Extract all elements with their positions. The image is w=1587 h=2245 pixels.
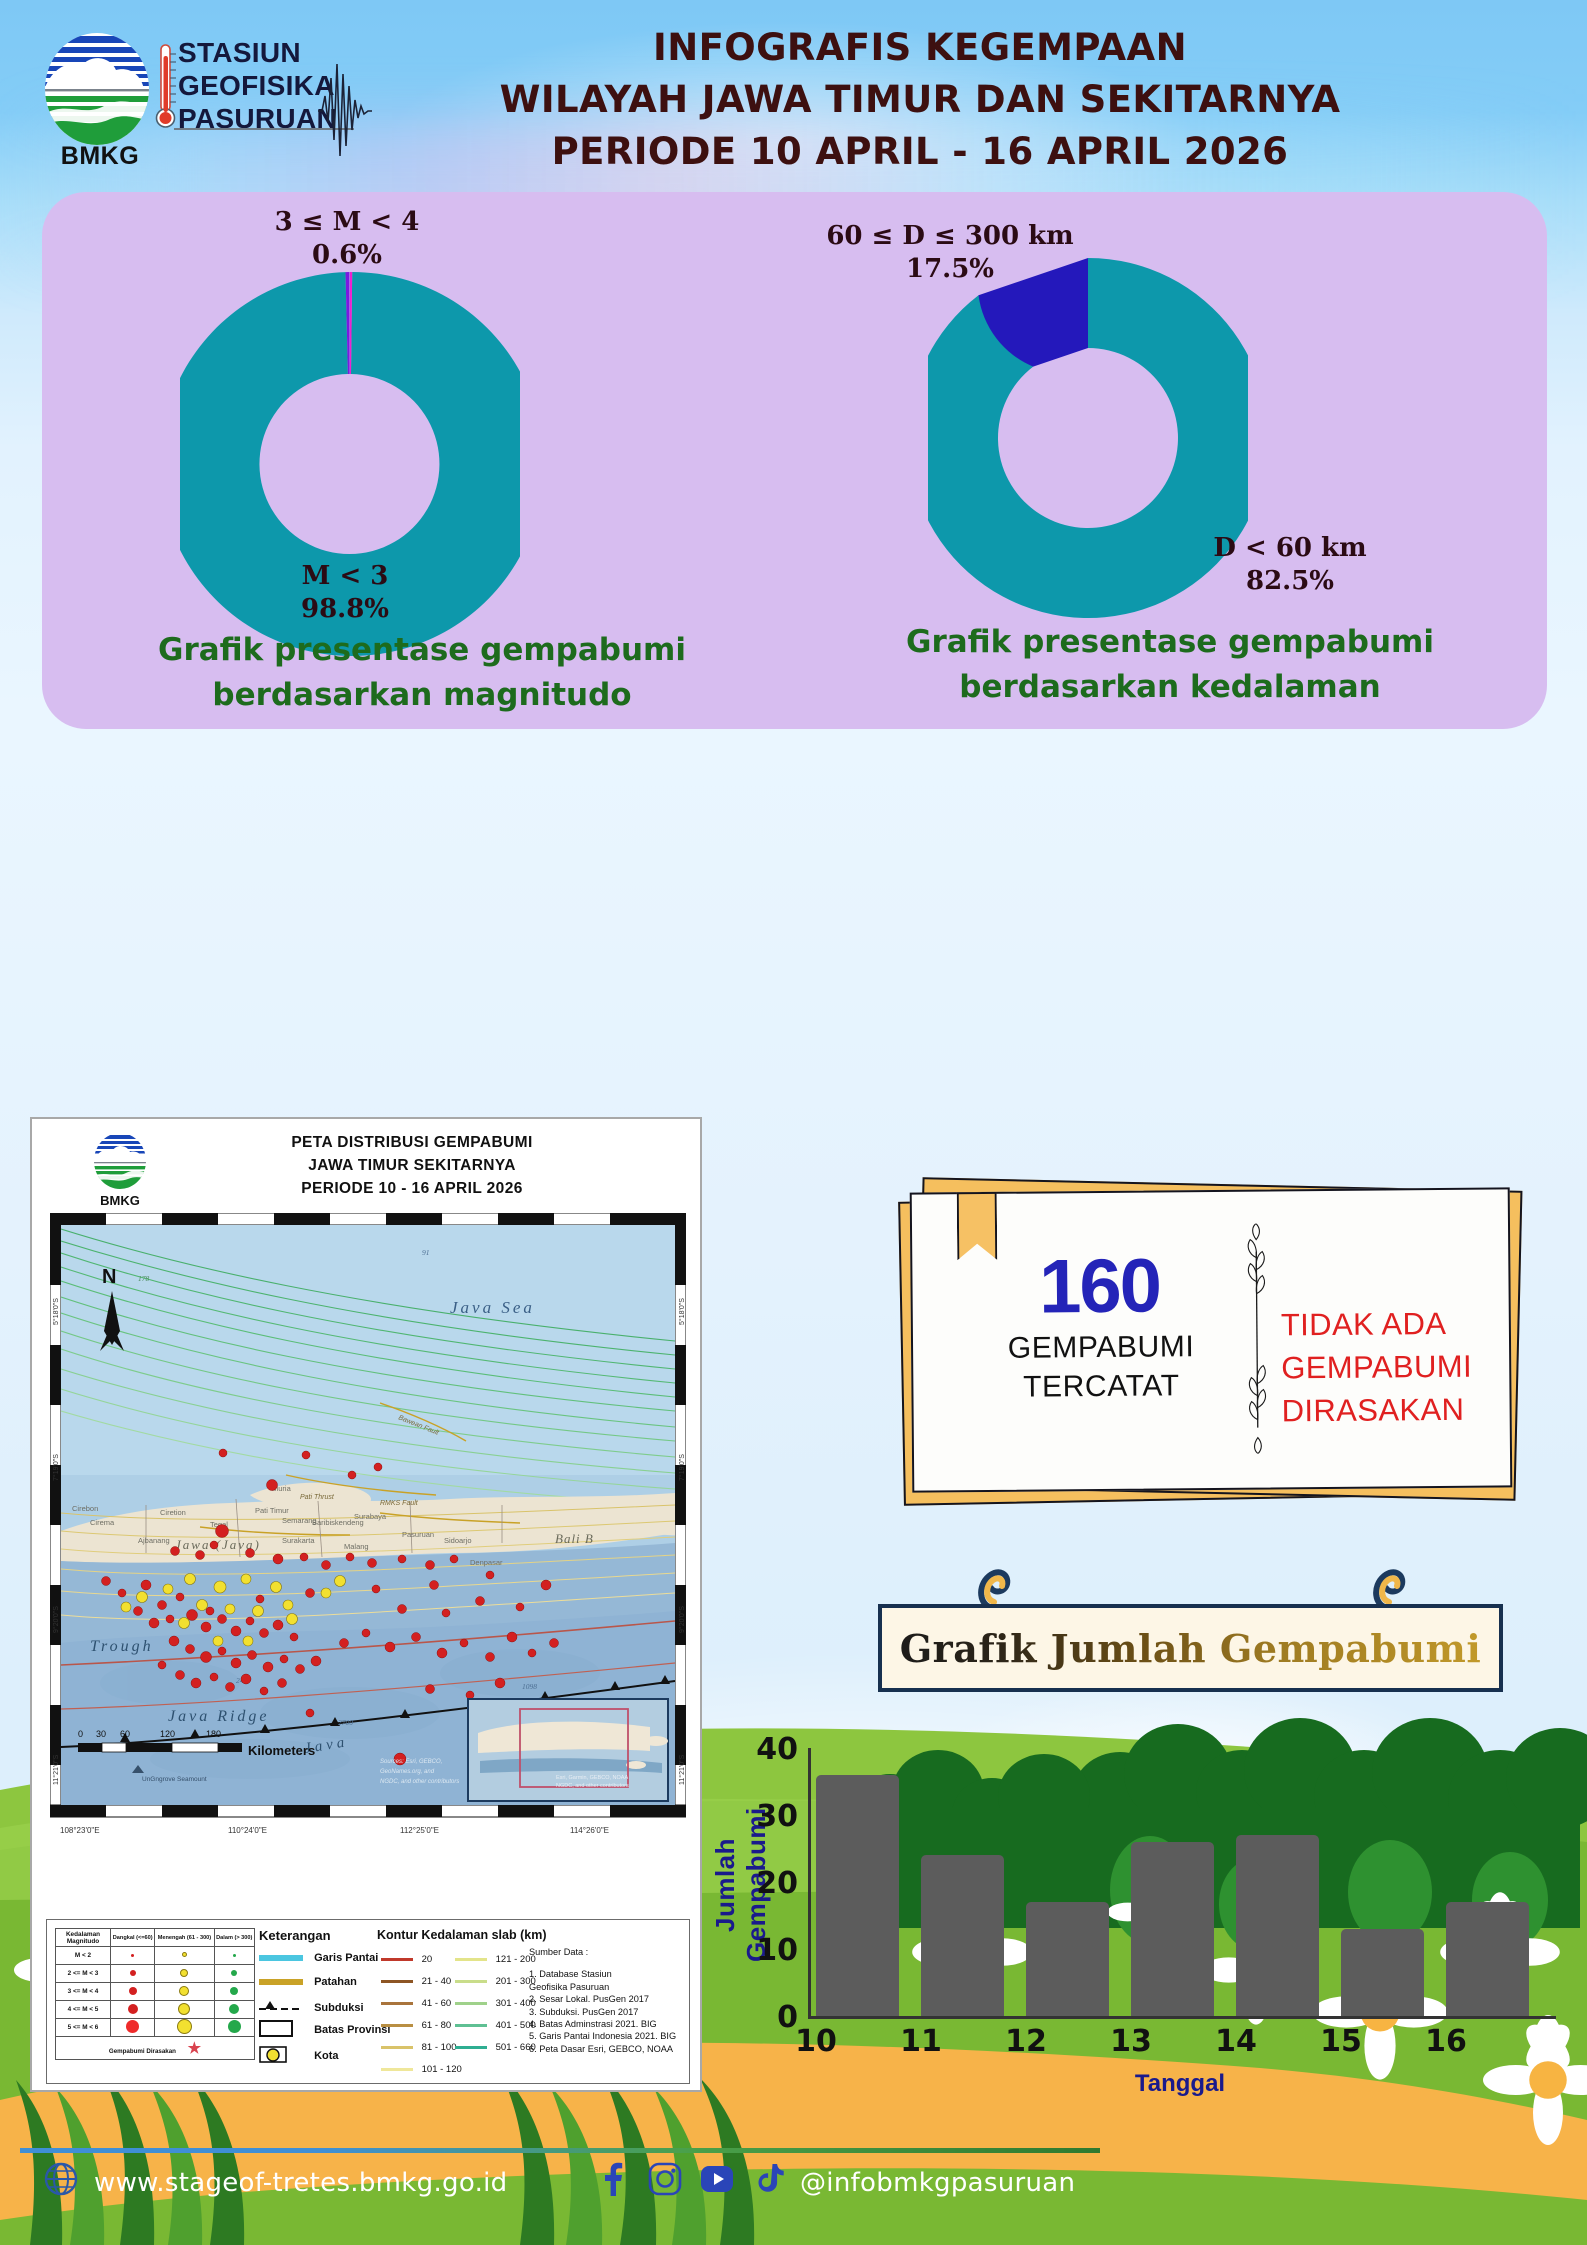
bar-10[interactable] [816,1775,899,2016]
map-svg: N Java Sea Jawa (Java) Trough Java Ridge… [50,1213,686,1853]
kontur-item-l6: 101 - 120 [381,2064,462,2075]
kontur-swatch-r4 [455,2024,487,2027]
map-plot-area[interactable]: N Java Sea Jawa (Java) Trough Java Ridge… [50,1213,686,1853]
chart-xtick-10: 10 [771,2024,861,2059]
percentage-charts-panel: 3 ≤ M < 4 0.6% M < 3 98.8% Grafik presen… [42,192,1547,729]
chart-xtick-12: 12 [981,2024,1071,2059]
chart-ytick-10: 10 [736,1933,798,1968]
title-line-3: PERIODE 10 APRIL - 16 APRIL 2026 [330,126,1510,178]
svg-text:7°19'0"S: 7°19'0"S [52,1454,60,1481]
legend-mag-label-1: M < 2 [56,1947,111,1965]
keterangan-item-province: Batas Provinsi [259,2024,390,2036]
svg-text:9°20'0"S: 9°20'0"S [52,1606,60,1633]
svg-text:N: N [102,1266,116,1288]
count-sub-line-2: TERCATAT [963,1366,1239,1407]
keterangan-item-city: Kota [259,2050,339,2062]
legend-depth-header-3: Dalam (> 300) [214,1929,254,1947]
svg-text:NGDC, and other contributors: NGDC, and other contributors [556,1783,629,1789]
legend-corner-header: Kedalaman Magnitudo [56,1929,111,1947]
title-line-1: INFOGRAFIS KEGEMPAAN [330,22,1510,74]
legend-row-m4: 4 <= M < 5 [56,2001,255,2019]
chart-x-axis-line [808,2016,1556,2019]
magnitude-caption: Grafik presentase gempabumi berdasarkan … [52,628,792,718]
source-item-3: 3. Subduksi. PusGen 2017 [529,2006,676,2018]
youtube-icon[interactable] [700,2162,734,2196]
magnitude-top-label-group: 3 ≤ M < 4 0.6% [182,206,512,272]
svg-text:60: 60 [120,1729,130,1739]
bali-label: Bali B [555,1531,594,1546]
legend-dot-green-1 [233,1954,236,1957]
svg-text:Esri, Garmin, GEBCO, NOAA: Esri, Garmin, GEBCO, NOAA [556,1775,628,1781]
legend-dot-yellow-5 [177,2019,192,2034]
svg-text:5°18'0"S: 5°18'0"S [52,1298,60,1325]
svg-text:Surabaya: Surabaya [354,1512,387,1521]
lon-tick-4: 114°26'0"E [570,1826,609,1835]
kontur-item-l4: 61 - 80 [381,2020,451,2031]
pati-thrust-label: Pati Thrust [300,1494,335,1501]
legend-dot-red-5 [126,2020,139,2033]
star-icon: ★ [188,2040,201,2057]
legend-dot-yellow-2 [180,1969,188,1977]
magnitude-bottom-value: 98.8% [220,593,470,626]
svg-text:11°21'0"S: 11°21'0"S [52,1754,60,1785]
svg-text:11°21'0"S: 11°21'0"S [678,1754,686,1785]
legend-mag-label-2: 2 <= M < 3 [56,1965,111,1983]
footer-website[interactable]: www.stageof-tretes.bmkg.go.id [94,2168,507,2198]
depth-bottom-label-group: D < 60 km 82.5% [1130,532,1450,598]
fault-swatch-icon [259,1979,303,1985]
depth-top-label: 60 ≤ D ≤ 300 km [750,220,1150,253]
bar-16[interactable] [1446,1902,1529,2016]
bmkg-emblem-icon [38,32,156,150]
bar-12[interactable] [1026,1902,1109,2016]
kontur-item-r3: 301 - 400 [455,1998,536,2009]
legend-dot-red-2 [130,1970,136,1976]
svg-text:Sources: Esri, GEBCO,: Sources: Esri, GEBCO, [380,1759,442,1765]
svg-text:Denpasar: Denpasar [470,1558,503,1567]
branch-divider-icon [1242,1223,1272,1453]
map-title-line-2: JAWA TIMUR SEKITARNYA [192,1154,632,1177]
facebook-icon[interactable] [600,2162,626,2196]
legend-dot-green-2 [231,1970,237,1976]
legend-dot-yellow-1 [182,1952,187,1957]
bar-15[interactable] [1341,1929,1424,2016]
chart-xtick-15: 15 [1296,2024,1386,2059]
footer-divider-line [20,2148,1100,2153]
chart-banner-title: Grafik Jumlah Gempabumi [882,1618,1499,1680]
legend-dot-red-4 [128,2004,138,2014]
svg-text:Pasuruan: Pasuruan [402,1530,434,1539]
kontur-item-l1: 20 [381,1954,432,1965]
map-header: BMKG PETA DISTRIBUSI GEMPABUMI JAWA TIMU… [32,1125,704,1211]
svg-text:30: 30 [96,1729,106,1739]
source-item-1b: Geofisika Pasuruan [529,1981,676,1993]
magnitude-donut-chart: 3 ≤ M < 4 0.6% M < 3 98.8% Grafik presen… [52,192,792,729]
chart-plot-area [810,1748,1550,2016]
chart-xtick-16: 16 [1401,2024,1491,2059]
map-logo-wordmark: BMKG [88,1193,152,1208]
instagram-icon[interactable] [648,2162,682,2196]
svg-text:180: 180 [206,1729,221,1739]
subduction-swatch-icon [259,2005,303,2011]
contour-label-1098: 1098 [522,1682,537,1691]
bar-11[interactable] [921,1855,1004,2016]
magnitude-caption-line-1: Grafik presentase gempabumi [52,628,792,673]
kontur-item-l2: 21 - 40 [381,1976,451,1987]
kontur-swatch-l1 [381,1958,413,1961]
legend-row-m2: 2 <= M < 3 [56,1965,255,1983]
kontur-swatch-r5 [455,2046,487,2049]
magnitude-caption-line-2: berdasarkan magnitudo [52,673,792,718]
tiktok-icon[interactable] [752,2162,786,2196]
depth-caption-line-1: Grafik presentase gempabumi [800,620,1540,665]
legend-dot-green-3 [230,1987,238,1995]
depth-bottom-label: D < 60 km [1130,532,1450,565]
depth-bottom-value: 82.5% [1130,565,1450,598]
source-data-block: Sumber Data : 1. Database Stasiun Geofis… [529,1946,676,2055]
earthquake-count-bar-chart: Jumlah Gempabumi 40 30 20 10 0 10 11 12 … [700,1718,1580,2088]
legend-mag-label-4: 4 <= M < 5 [56,2001,111,2019]
source-item-6: 6. Peta Dasar Esri, GEBCO, NOAA [529,2043,676,2055]
page-header: BMKG STASIUN GEOFISIKA PASURUAN INFOGRAF… [0,0,1587,195]
count-sub-line-1: GEMPABUMI [963,1327,1239,1368]
map-legend: Kedalaman Magnitudo Dangkal (<=60) Menen… [46,1919,690,2084]
contour-label-2700: 2700 [338,1718,353,1727]
java-ridge-label: Java Ridge [168,1708,270,1725]
seamount-label: UnGngrove Seamount [142,1776,207,1783]
kontur-swatch-r3 [455,2002,487,2005]
kontur-item-l3: 41 - 60 [381,1998,451,2009]
rmks-fault-label: RMKS Fault [380,1500,419,1507]
station-name: STASIUN GEOFISIKA PASURUAN [178,36,337,135]
svg-text:0: 0 [78,1729,83,1739]
svg-text:120: 120 [160,1729,175,1739]
legend-row-m5: 5 <= M < 6 [56,2019,255,2037]
source-item-5: 5. Garis Pantai Indonesia 2021. BIG [529,2030,676,2042]
no-felt-line-1: TIDAK ADA [1281,1301,1509,1346]
keterangan-title: Keterangan [259,1928,331,1943]
contour-label-178: 178 [138,1274,150,1283]
map-title: PETA DISTRIBUSI GEMPABUMI JAWA TIMUR SEK… [192,1131,632,1200]
bar-14[interactable] [1236,1835,1319,2016]
bar-13[interactable] [1131,1842,1214,2016]
magnitude-depth-legend-table: Kedalaman Magnitudo Dangkal (<=60) Menen… [55,1928,255,2060]
legend-depth-header-2: Menengah (61 - 300) [155,1929,214,1947]
keterangan-item-fault: Patahan [259,1976,357,1988]
station-line-1: STASIUN [178,36,337,69]
legend-dot-yellow-3 [179,1986,189,1996]
keterangan-item-coastline: Garis Pantai [259,1952,378,1964]
legend-dot-green-4 [229,2004,239,2014]
svg-text:GeoNames.org, and: GeoNames.org, and [380,1769,435,1775]
earthquake-distribution-map-card: BMKG PETA DISTRIBUSI GEMPABUMI JAWA TIMU… [30,1117,702,2092]
source-item-1: 1. Database Stasiun [529,1968,676,1980]
kontur-item-l5: 81 - 100 [381,2042,457,2053]
no-felt-line-3: DIRASAKAN [1281,1387,1509,1432]
legend-felt-label: Gempabumi Dirasakan [109,2048,176,2055]
chart-ytick-40: 40 [736,1732,798,1767]
earthquake-count-card: 160 GEMPABUMI TERCATAT TIDAK ADA GEMPABU [893,1178,1519,1510]
footer-social-handle[interactable]: @infobmkgpasuruan [800,2168,1075,2198]
legend-dot-green-5 [228,2020,241,2033]
title-line-2: WILAYAH JAWA TIMUR DAN SEKITARNYA [330,74,1510,126]
svg-text:Cirema: Cirema [90,1518,115,1527]
magnitude-bottom-label: M < 3 [220,560,470,593]
card-front: 160 GEMPABUMI TERCATAT TIDAK ADA GEMPABU [910,1187,1513,1492]
trough-label: Trough [90,1638,154,1655]
svg-text:Kilometers: Kilometers [248,1743,315,1758]
source-title: Sumber Data : [529,1946,676,1958]
chart-xtick-11: 11 [876,2024,966,2059]
page-title: INFOGRAFIS KEGEMPAAN WILAYAH JAWA TIMUR … [330,22,1510,178]
legend-depth-header-1: Dangkal (<=60) [111,1929,155,1947]
legend-dot-red-3 [129,1987,137,1995]
source-item-4: 4. Batas Adminstrasi 2021. BIG [529,2018,676,2030]
chart-x-axis-label: Tanggal [810,2070,1550,2098]
station-line-2: GEOFISIKA [178,69,337,102]
magnitude-top-label: 3 ≤ M < 4 [182,206,512,239]
chart-ytick-20: 20 [736,1866,798,1901]
legend-row-m3: 3 <= M < 4 [56,1983,255,2001]
source-item-2: 2. Sesar Lokal. PusGen 2017 [529,1993,676,2005]
globe-icon[interactable] [44,2162,78,2196]
java-sea-label: Java Sea [450,1298,535,1317]
chart-ytick-30: 30 [736,1799,798,1834]
svg-text:Malang: Malang [344,1542,369,1551]
legend-dot-yellow-4 [178,2003,190,2015]
earthquake-count-subtitle: GEMPABUMI TERCATAT [963,1327,1240,1407]
svg-text:Cirebon: Cirebon [72,1504,98,1513]
lon-tick-2: 110°24'0"E [228,1826,267,1835]
bmkg-emblem-icon-small [90,1133,150,1193]
depth-caption-line-2: berdasarkan kedalaman [800,665,1540,710]
svg-text:Pati Timur: Pati Timur [255,1506,289,1515]
legend-corner-depth: Kedalaman [66,1931,100,1938]
depth-donut-chart: 60 ≤ D ≤ 300 km 17.5% D < 60 km 82.5% Gr… [800,192,1540,729]
kontur-swatch-l6 [381,2068,413,2071]
kontur-item-r5: 501 - 660 [455,2042,536,2053]
earthquake-count-number: 160 [974,1242,1225,1331]
kontur-swatch-r1 [455,1958,487,1961]
magnitude-top-value: 0.6% [182,239,512,272]
lon-tick-3: 112°25'0"E [400,1826,439,1835]
svg-text:Sidoarjo: Sidoarjo [444,1536,472,1545]
svg-text:5°18'0"S: 5°18'0"S [678,1298,686,1325]
svg-text:NGDC, and other contributors: NGDC, and other contributors [380,1779,459,1785]
legend-mag-label-5: 5 <= M < 6 [56,2019,111,2037]
lon-tick-1: 108°23'0"E [60,1826,100,1835]
svg-text:Ciretion: Ciretion [160,1508,186,1517]
kontur-swatch-l2 [381,1980,413,1983]
legend-dot-red-1 [131,1954,134,1957]
no-felt-line-2: GEMPABUMI [1281,1344,1509,1389]
legend-felt-row: Gempabumi Dirasakan ★ [56,2037,255,2060]
chart-title-banner: Grafik Jumlah Gempabumi [878,1604,1503,1692]
svg-text:7°19'0"S: 7°19'0"S [678,1454,686,1481]
chart-xtick-13: 13 [1086,2024,1176,2059]
map-title-line-1: PETA DISTRIBUSI GEMPABUMI [192,1131,632,1154]
coastline-swatch-icon [259,1955,303,1961]
inset-map: Esri, Garmin, GEBCO, NOAA NGDC, and othe… [468,1699,668,1801]
magnitude-bottom-label-group: M < 3 98.8% [220,560,470,626]
svg-text:9°20'0"S: 9°20'0"S [678,1606,686,1633]
station-line-3: PASURUAN [178,102,337,135]
kontur-swatch-l3 [381,2002,413,2005]
kontur-item-r1: 121 - 200 [455,1954,536,1965]
map-title-line-3: PERIODE 10 - 16 APRIL 2026 [192,1177,632,1200]
kontur-title: Kontur Kedalaman slab (km) [377,1928,546,1942]
kontur-swatch-r2 [455,1980,487,1983]
kontur-swatch-l4 [381,2024,413,2027]
bmkg-wordmark: BMKG [52,142,148,171]
legend-corner-mag: Magnitudo [67,1938,99,1945]
no-felt-earthquake-message: TIDAK ADA GEMPABUMI DIRASAKAN [1281,1301,1510,1432]
svg-text:Ajbanang: Ajbanang [138,1536,170,1545]
thermometer-icon [155,42,177,134]
city-swatch-icon [259,2053,303,2059]
kontur-swatch-l5 [381,2046,413,2049]
kontur-item-r2: 201 - 300 [455,1976,536,1987]
legend-row-m1: M < 2 [56,1947,255,1965]
chart-xtick-14: 14 [1191,2024,1281,2059]
depth-caption: Grafik presentase gempabumi berdasarkan … [800,620,1540,710]
legend-mag-label-3: 3 <= M < 4 [56,1983,111,2001]
svg-text:Surakarta: Surakarta [282,1536,315,1545]
province-swatch-icon [259,2027,303,2033]
contour-label-91: 91 [422,1248,430,1257]
kontur-item-r4: 401 - 500 [455,2020,536,2031]
keterangan-item-subduction: Subduksi [259,2002,364,2014]
